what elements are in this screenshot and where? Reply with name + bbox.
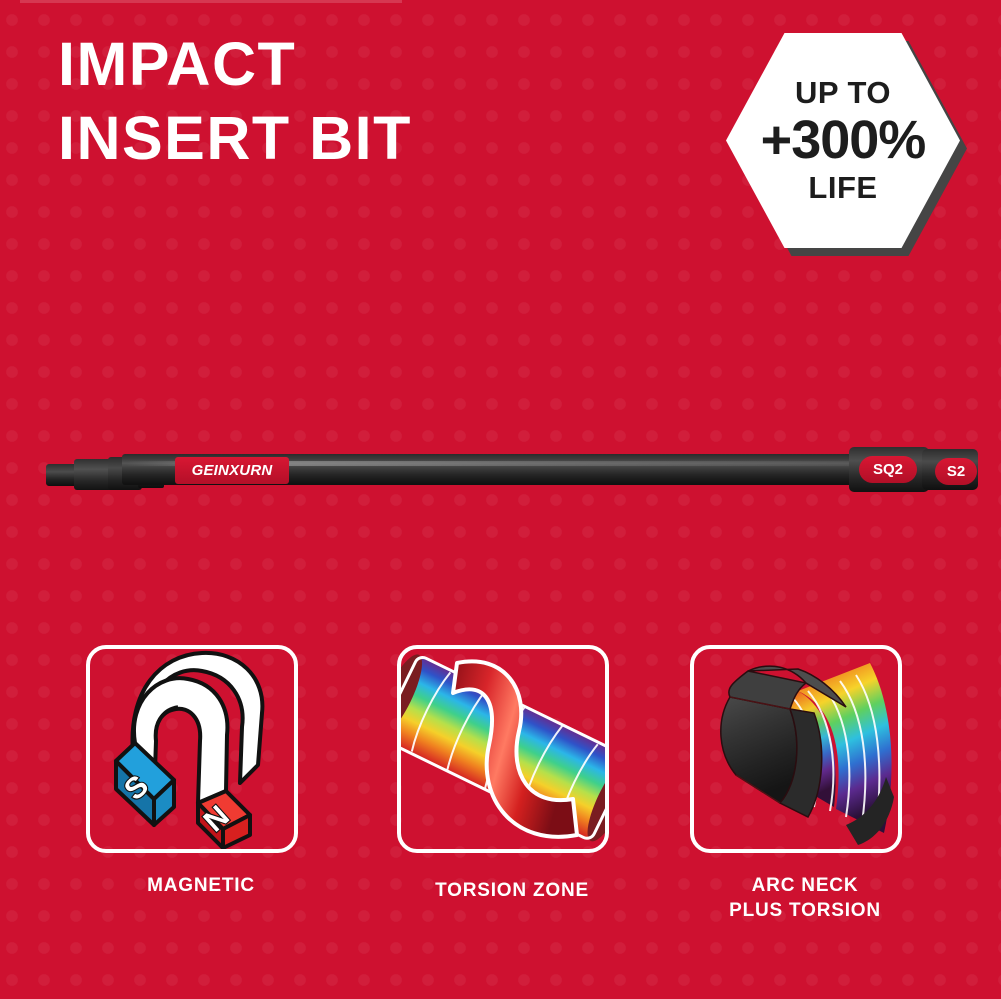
title-line-2: INSERT BIT <box>58 101 412 175</box>
feature-arc-neck: ARC NECK PLUS TORSION <box>690 645 920 923</box>
horseshoe-magnet-icon: S N <box>90 649 294 849</box>
product-marketing-banner: IMPACT INSERT BIT UP TO +300% LIFE GEINX… <box>0 0 1001 999</box>
arc-neck-icon <box>694 649 898 849</box>
feature-torsion-zone: TORSION ZONE <box>397 645 627 903</box>
top-highlight-strip <box>20 0 402 3</box>
feature-card-torsion-zone <box>397 645 609 853</box>
feature-label-arc-neck: ARC NECK PLUS TORSION <box>690 873 920 923</box>
tip-size-badge: SQ2 <box>859 456 917 483</box>
title-line-1: IMPACT <box>58 27 412 101</box>
steel-grade-badge: S2 <box>935 458 977 485</box>
feature-magnetic: S N MAGNETIC <box>86 645 316 898</box>
feature-label-line: TORSION ZONE <box>435 880 589 901</box>
feature-label-line-1: ARC NECK <box>752 875 859 896</box>
feature-label-line: MAGNETIC <box>147 875 255 896</box>
life-badge: UP TO +300% LIFE <box>726 33 966 258</box>
badge-bottom-label: LIFE <box>808 171 877 205</box>
product-image-impact-bit: GEINXURN SQ2 S2 <box>34 420 974 520</box>
feature-card-arc-neck <box>690 645 902 853</box>
torsion-zone-icon <box>401 649 605 849</box>
badge-value: +300% <box>761 111 926 169</box>
feature-label-magnetic: MAGNETIC <box>86 873 316 898</box>
brand-name: GEINXURN <box>192 462 273 479</box>
feature-label-line-2: PLUS TORSION <box>729 900 881 921</box>
badge-top-label: UP TO <box>795 76 891 110</box>
feature-card-magnetic: S N <box>86 645 298 853</box>
feature-label-torsion-zone: TORSION ZONE <box>397 878 627 903</box>
page-title: IMPACT INSERT BIT <box>58 27 412 175</box>
badge-content: UP TO +300% LIFE <box>726 33 960 248</box>
brand-label: GEINXURN <box>175 457 289 484</box>
